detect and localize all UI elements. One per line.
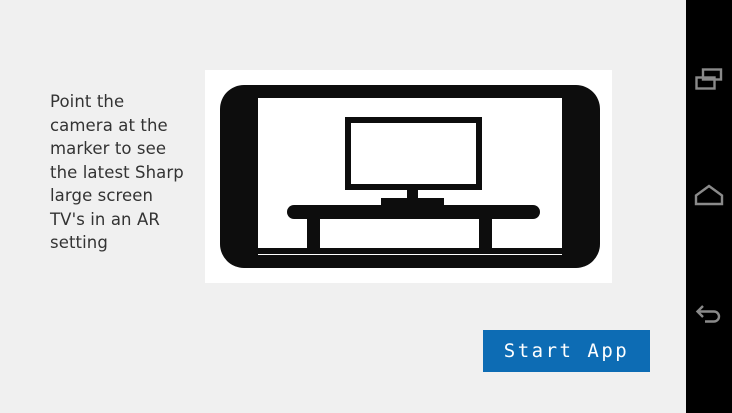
instruction-text: Point the camera at the marker to see th… — [50, 90, 192, 255]
table-leg-left — [307, 218, 320, 248]
tv-illustration — [258, 98, 562, 255]
recents-icon — [694, 67, 724, 93]
table-top — [287, 205, 540, 219]
home-icon — [694, 183, 724, 207]
navigation-bar — [686, 0, 732, 413]
home-button[interactable] — [686, 165, 732, 225]
tv-screen — [345, 117, 482, 190]
content-area: Point the camera at the marker to see th… — [0, 0, 686, 413]
back-icon — [694, 299, 724, 325]
table-leg-right — [479, 218, 492, 248]
app-root: Point the camera at the marker to see th… — [0, 0, 732, 413]
recents-button[interactable] — [686, 50, 732, 110]
illustration-card — [205, 70, 612, 283]
floor-line — [258, 248, 562, 254]
phone-screen — [258, 98, 562, 255]
start-app-button[interactable]: Start App — [483, 330, 650, 372]
back-button[interactable] — [686, 282, 732, 342]
tv-base — [381, 198, 444, 205]
phone-frame — [220, 85, 600, 268]
